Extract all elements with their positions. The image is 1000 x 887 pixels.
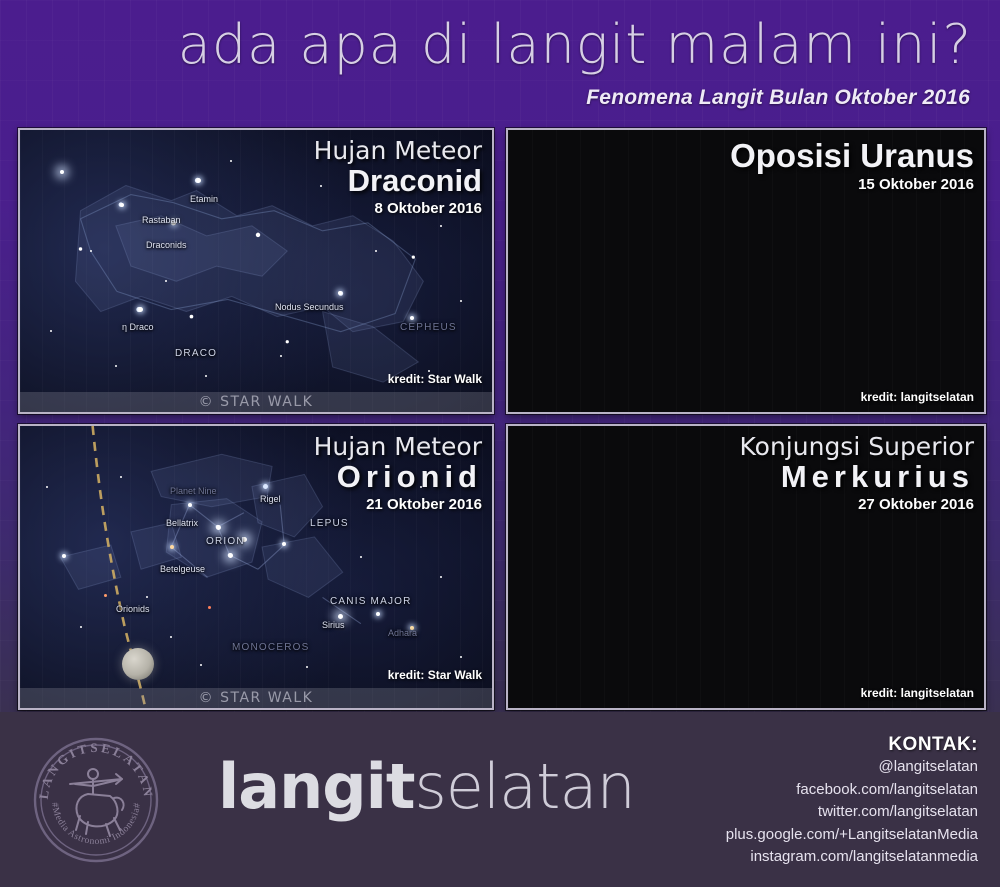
panel-merkurius[interactable]: Konjungsi Superior Merkurius 27 Oktober …: [506, 424, 986, 710]
sky-label: CEPHEUS: [400, 322, 457, 333]
moon-icon: [122, 648, 154, 680]
poster-footer: LANGITSELATAN #Media Astronomi Indonesia…: [0, 712, 1000, 887]
panel-name: Oposisi Uranus: [730, 138, 974, 174]
starwalk-watermark-bar: © STAR WALK: [20, 688, 492, 708]
panel-credit: kredit: langitselatan: [861, 390, 974, 404]
sky-label: Rigel: [260, 494, 281, 504]
sky-label: MONOCEROS: [232, 642, 309, 653]
panel-uranus[interactable]: Oposisi Uranus 15 Oktober 2016 kredit: l…: [506, 128, 986, 414]
panel-kicker: Konjungsi Superior: [740, 434, 974, 460]
sky-label: Nodus Secundus: [275, 302, 344, 312]
panel-date: 15 Oktober 2016: [730, 174, 974, 195]
sky-label: Etamin: [190, 194, 218, 204]
panel-heading-draconid: Hujan Meteor Draconid 8 Oktober 2016: [314, 138, 482, 219]
contact-facebook[interactable]: facebook.com/langitselatan: [726, 779, 978, 802]
sky-label: Planet Nine: [170, 486, 217, 496]
panel-name: Draconid: [314, 164, 482, 198]
panel-date: 8 Oktober 2016: [314, 198, 482, 219]
contact-title: KONTAK:: [726, 734, 978, 756]
page-subtitle: Fenomena Langit Bulan Oktober 2016: [586, 86, 970, 110]
poster-root: ada apa di langit malam ini? Fenomena La…: [0, 0, 1000, 887]
panel-kicker: Hujan Meteor: [314, 138, 482, 164]
langitselatan-logo: LANGITSELATAN #Media Astronomi Indonesia…: [30, 734, 162, 866]
panel-heading-merkurius: Konjungsi Superior Merkurius 27 Oktober …: [740, 434, 974, 515]
panel-heading-uranus: Oposisi Uranus 15 Oktober 2016: [730, 138, 974, 195]
panel-date: 21 Oktober 2016: [314, 494, 482, 515]
wordmark-light: selatan: [415, 750, 635, 823]
panel-credit: kredit: Star Walk: [388, 668, 482, 682]
contact-block: KONTAK: @langitselatan facebook.com/lang…: [726, 734, 978, 869]
sky-label: Draconids: [146, 240, 187, 250]
starwalk-watermark-text: © STAR WALK: [199, 394, 314, 410]
sky-label: Adhara: [388, 628, 417, 638]
panel-orionid[interactable]: Planet Nine Rigel Bellatrix ORION LEPUS …: [18, 424, 494, 710]
panel-credit: kredit: Star Walk: [388, 372, 482, 386]
panel-draconid[interactable]: Etamin Rastaban Draconids Nodus Secundus…: [18, 128, 494, 414]
starwalk-watermark-bar: © STAR WALK: [20, 392, 492, 412]
contact-handle[interactable]: @langitselatan: [726, 756, 978, 779]
sky-label: Sirius: [322, 620, 345, 630]
panel-kicker: Hujan Meteor: [314, 434, 482, 460]
sky-label: η Draco: [122, 322, 154, 332]
sagittarius-archer-icon: [70, 769, 124, 836]
panel-name: Orionid: [314, 460, 482, 494]
sky-label: Orionids: [116, 604, 150, 614]
sky-label: CANIS MAJOR: [330, 596, 412, 607]
sky-label: DRACO: [175, 348, 217, 359]
contact-googleplus[interactable]: plus.google.com/+LangitselatanMedia: [726, 824, 978, 847]
panel-name: Merkurius: [740, 460, 974, 494]
contact-instagram[interactable]: instagram.com/langitselatanmedia: [726, 846, 978, 869]
contact-twitter[interactable]: twitter.com/langitselatan: [726, 801, 978, 824]
panel-date: 27 Oktober 2016: [740, 494, 974, 515]
panel-credit: kredit: langitselatan: [861, 686, 974, 700]
brand-wordmark: langitselatan: [218, 756, 635, 818]
sky-label: Betelgeuse: [160, 564, 205, 574]
starwalk-watermark-text: © STAR WALK: [199, 690, 314, 706]
logo-inner-text: #Media Astronomi Indonesia#: [49, 802, 143, 847]
sky-label: Rastaban: [142, 215, 181, 225]
page-title: ada apa di langit malam ini?: [178, 18, 972, 72]
sky-label: ORION: [206, 536, 245, 547]
sky-label: Bellatrix: [166, 518, 198, 528]
panel-heading-orionid: Hujan Meteor Orionid 21 Oktober 2016: [314, 434, 482, 515]
wordmark-bold: langit: [218, 750, 415, 823]
sky-label: LEPUS: [310, 518, 349, 529]
poster-header: ada apa di langit malam ini? Fenomena La…: [0, 0, 1000, 122]
